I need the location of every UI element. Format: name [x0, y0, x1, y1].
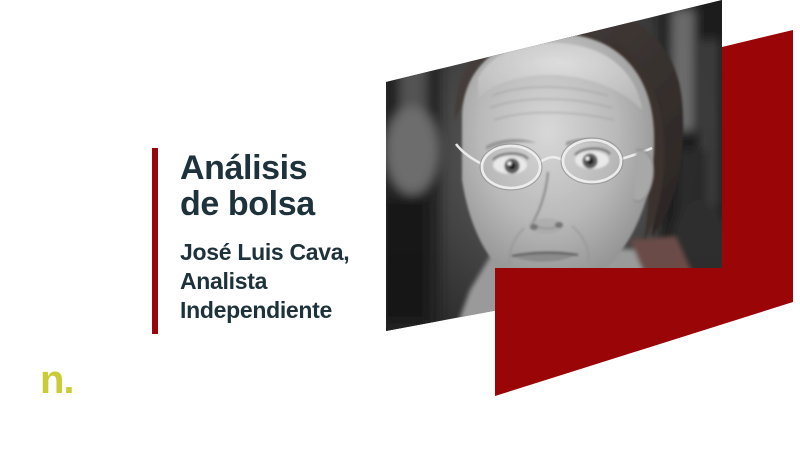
- brand-logo: n.: [40, 360, 74, 400]
- red-accent-shape-top: [722, 0, 793, 47]
- slide-canvas: Análisis de bolsa José Luis Cava, Analis…: [0, 0, 800, 450]
- red-accent-shape: [495, 30, 793, 396]
- eyeglasses: [456, 140, 652, 188]
- title-block: Análisis de bolsa José Luis Cava, Analis…: [152, 148, 392, 334]
- red-accent-shape-upper: [722, 30, 793, 74]
- speaker-subtitle: José Luis Cava, Analista Independiente: [180, 222, 349, 325]
- title-text-column: Análisis de bolsa José Luis Cava, Analis…: [158, 148, 349, 334]
- portrait-photo: [380, 0, 730, 350]
- hero-graphic: [0, 0, 800, 450]
- page-title: Análisis de bolsa: [180, 148, 349, 222]
